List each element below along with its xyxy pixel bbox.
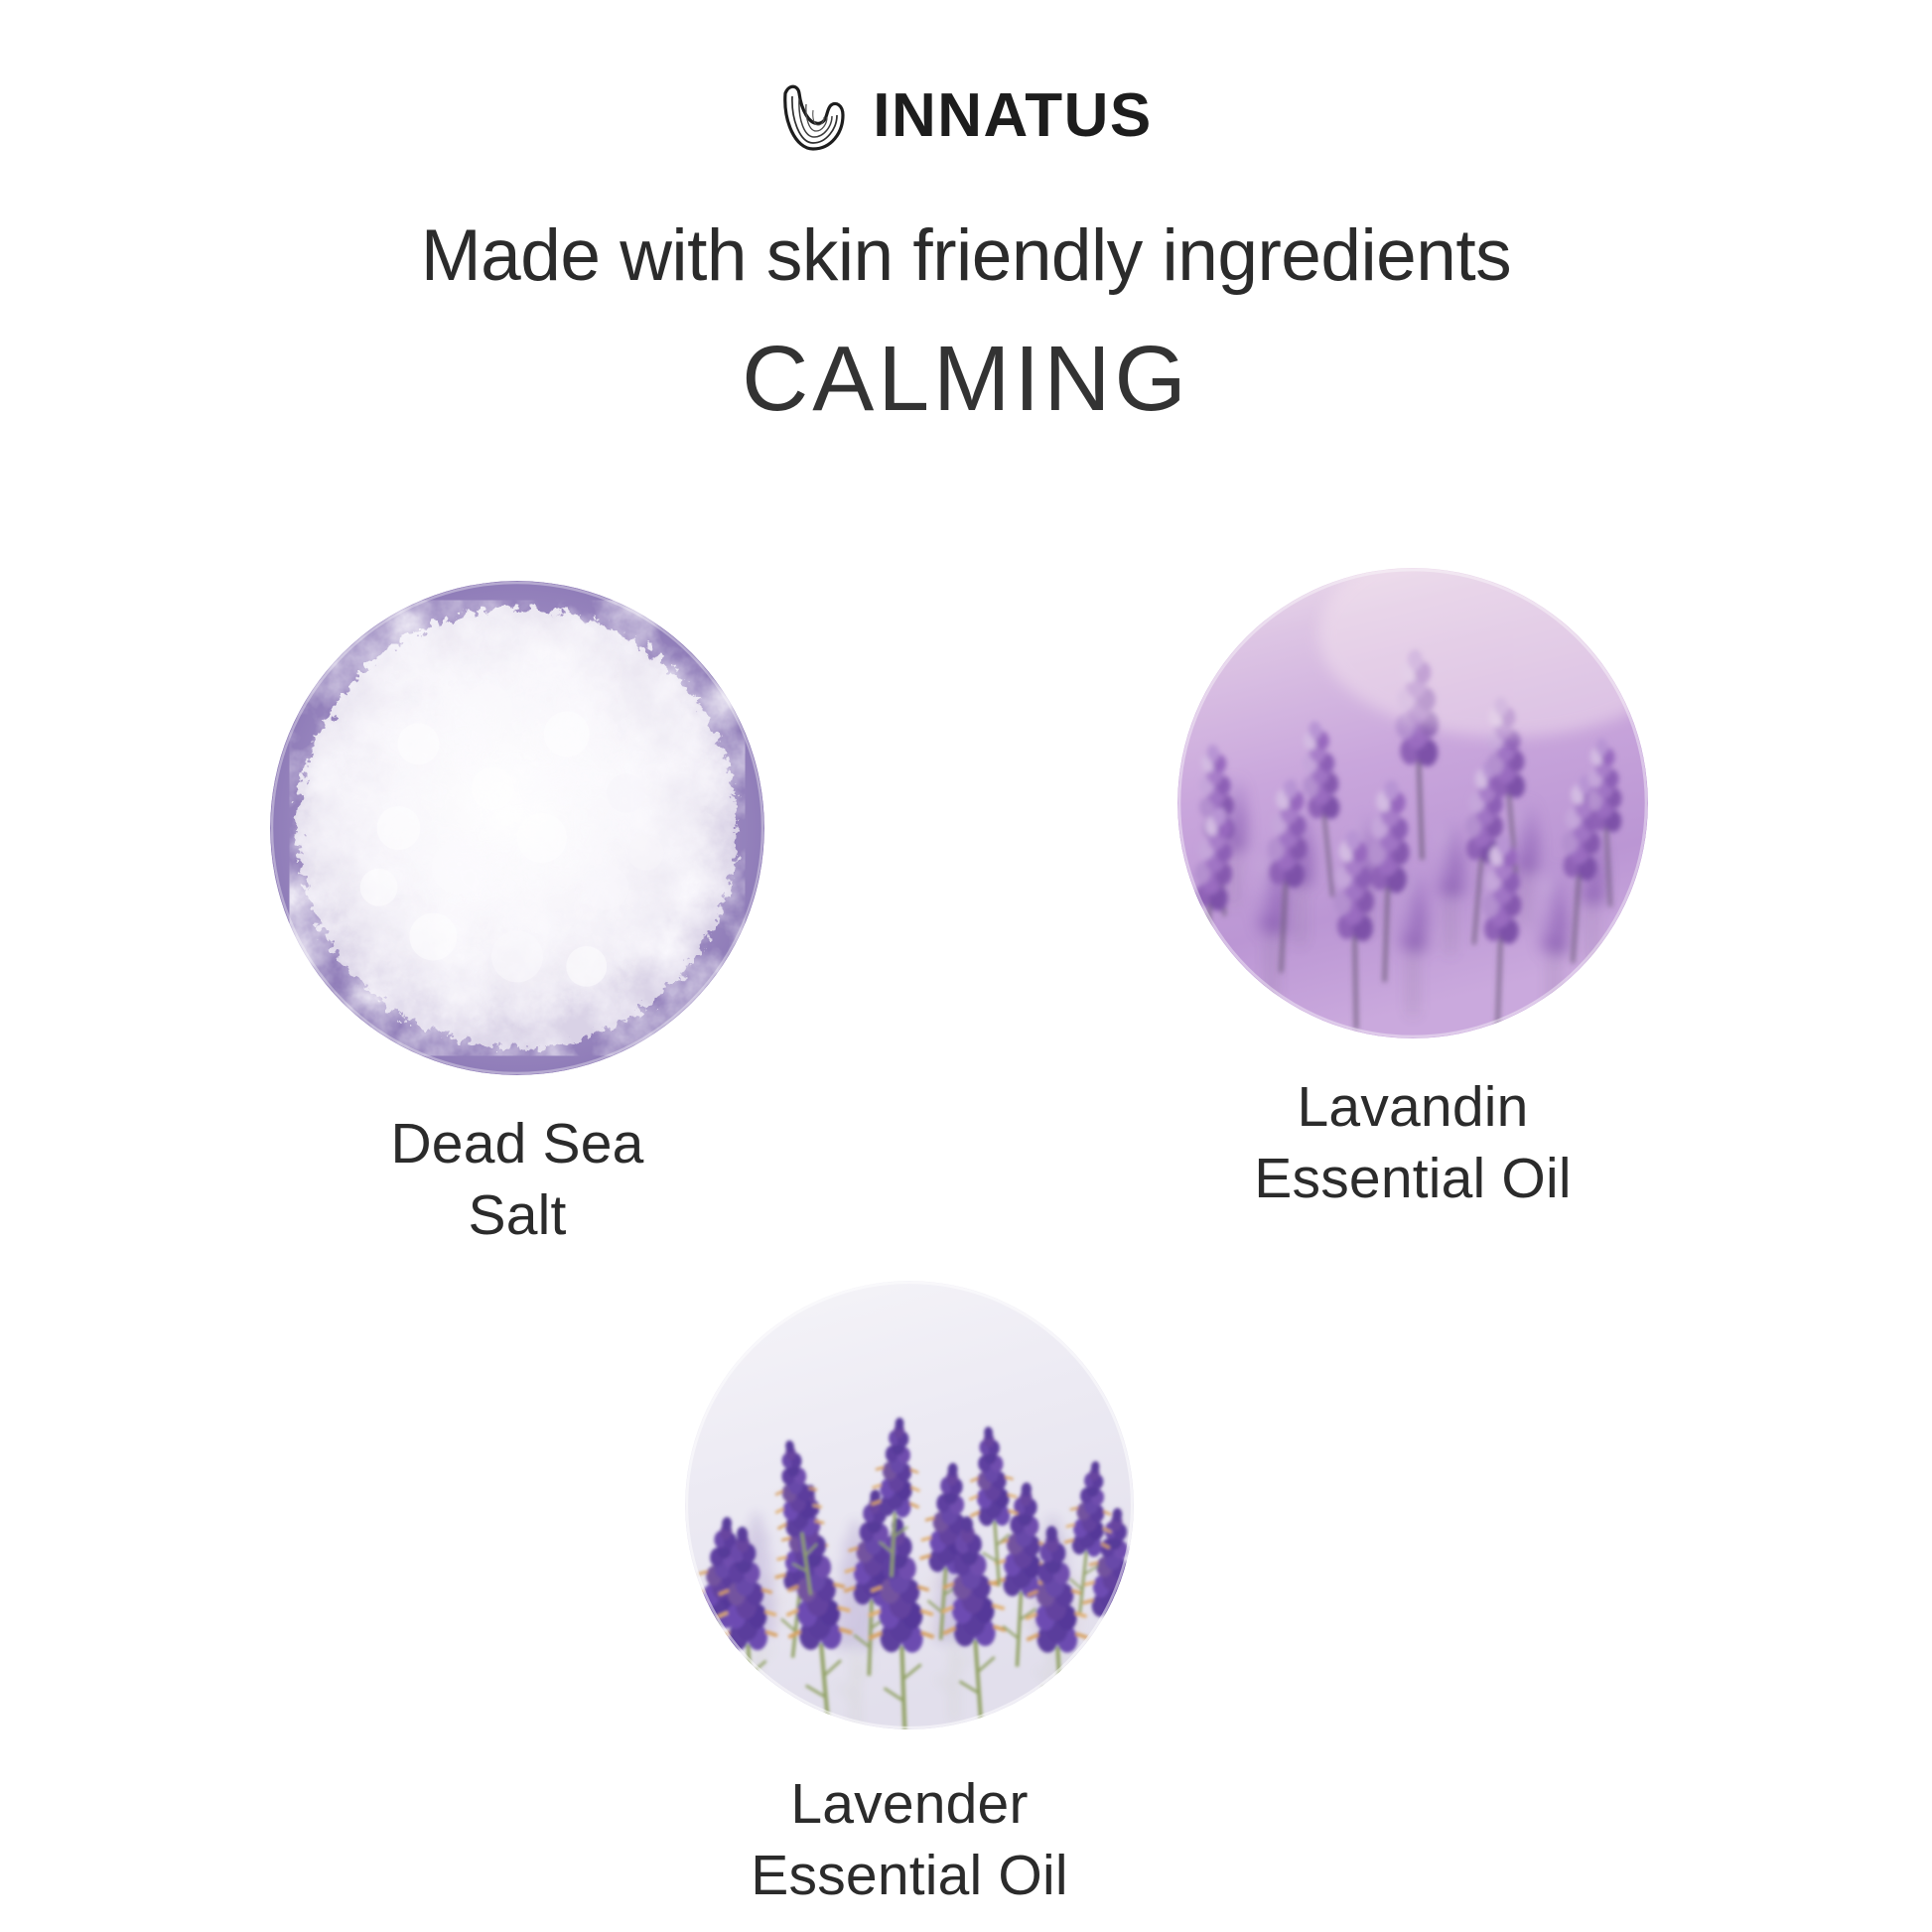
dead-sea-salt-image [270, 581, 764, 1075]
brand-header: INNATUS [0, 77, 1932, 155]
subheading: Made with skin friendly ingredients [0, 216, 1932, 296]
ingredient-item-dead-sea-salt: Dead Sea Salt [270, 581, 764, 1252]
ingredient-item-lavandin-essential-oil: Lavandin Essential Oil [1177, 568, 1648, 1215]
ingredient-caption: Lavandin Essential Oil [1177, 1072, 1648, 1215]
page-title: CALMING [0, 328, 1932, 429]
brand-name: INNATUS [873, 85, 1152, 147]
lavender-essential-oil-image [685, 1281, 1134, 1729]
ingredient-item-lavender-essential-oil: Lavender Essential Oil [685, 1281, 1134, 1912]
ingredient-caption: Lavender Essential Oil [685, 1769, 1134, 1912]
ingredient-caption: Dead Sea Salt [270, 1109, 764, 1252]
innatus-logo-icon [779, 77, 851, 155]
lavandin-essential-oil-image [1177, 568, 1648, 1038]
